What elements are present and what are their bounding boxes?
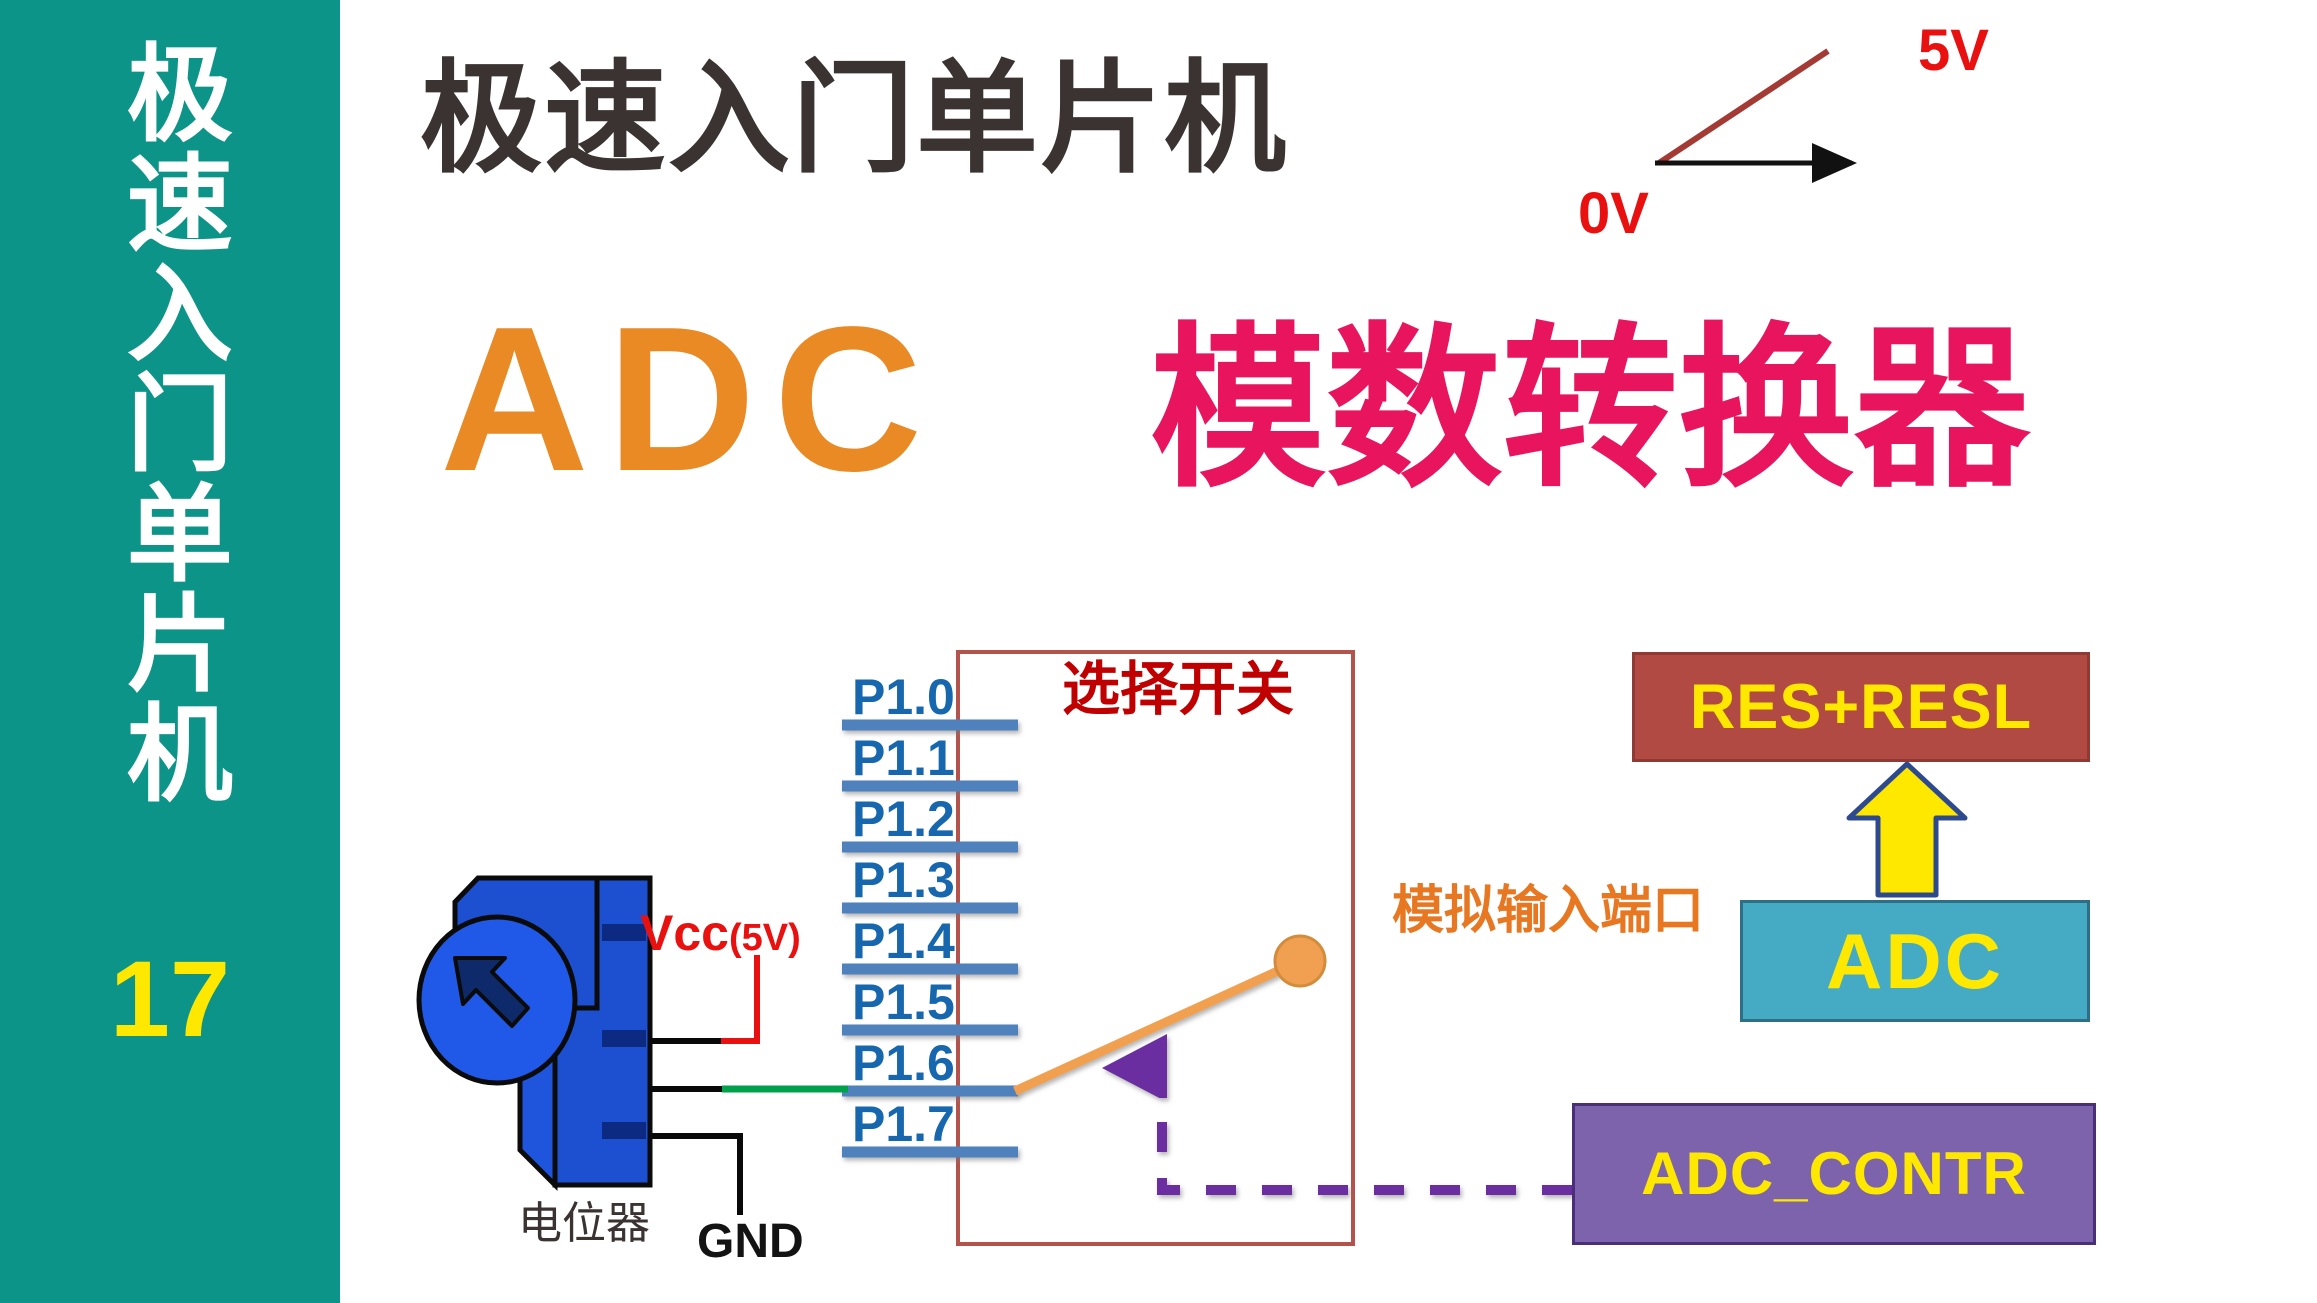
- vcc-label-main: Vcc: [640, 905, 729, 961]
- selector-switch-label: 选择开关: [1062, 660, 1294, 718]
- page-title-en: ADC: [440, 296, 940, 502]
- pin-label-p1-2: P1.2: [852, 794, 955, 844]
- pin-label-p1-4: P1.4: [852, 916, 955, 966]
- header-subtitle: 极速入门单片机: [420, 58, 1288, 180]
- ramp-slope-line: [1659, 51, 1828, 163]
- potentiometer-knob: [419, 917, 575, 1083]
- potentiometer-icon: [419, 878, 650, 1185]
- pin-label-p1-6: P1.6: [852, 1038, 955, 1088]
- sidebar-title: 极速入门单片机: [0, 38, 340, 958]
- adc-box: ADC: [1740, 900, 2090, 1022]
- vcc-label-sub: (5V): [729, 917, 801, 959]
- potentiometer-knob-arrow: [455, 958, 528, 1026]
- pot-wire-vcc: [721, 955, 757, 1041]
- sidebar-episode-number: 17: [0, 945, 340, 1053]
- analog-input-port-label: 模拟输入端口: [1392, 885, 1704, 937]
- pin-label-p1-0: P1.0: [852, 672, 955, 722]
- pin-label-p1-7: P1.7: [852, 1099, 955, 1149]
- potentiometer-label: 电位器: [518, 1202, 650, 1246]
- page-title-cn: 模数转换器: [1150, 322, 2030, 498]
- vcc-label: Vcc(5V): [640, 908, 801, 958]
- ramp-label-5v: 5V: [1918, 22, 1989, 80]
- result-up-arrow: [1849, 764, 1965, 895]
- gnd-label: GND: [697, 1218, 804, 1266]
- sidebar-title-text: 极速入门单片机: [113, 38, 226, 808]
- pot-wire-gnd: [650, 1136, 740, 1215]
- pin-label-p1-3: P1.3: [852, 855, 955, 905]
- sidebar: 极速入门单片机 17: [0, 0, 340, 1303]
- switch-arm: [1015, 964, 1293, 1091]
- res-resl-box: RES+RESL: [1632, 652, 2090, 762]
- adc-contr-box: ADC_CONTR: [1572, 1103, 2096, 1245]
- control-dashed-line: [1162, 1068, 1572, 1190]
- selector-switch-box: [958, 652, 1353, 1244]
- ramp-label-0v: 0V: [1578, 185, 1649, 243]
- pin-label-p1-1: P1.1: [852, 733, 955, 783]
- switch-node: [1275, 936, 1325, 986]
- slide-canvas: 极速入门单片机 17 极速入门单片机 5V 0V ADC 模数转换器: [0, 0, 2317, 1303]
- pin-label-p1-5: P1.5: [852, 977, 955, 1027]
